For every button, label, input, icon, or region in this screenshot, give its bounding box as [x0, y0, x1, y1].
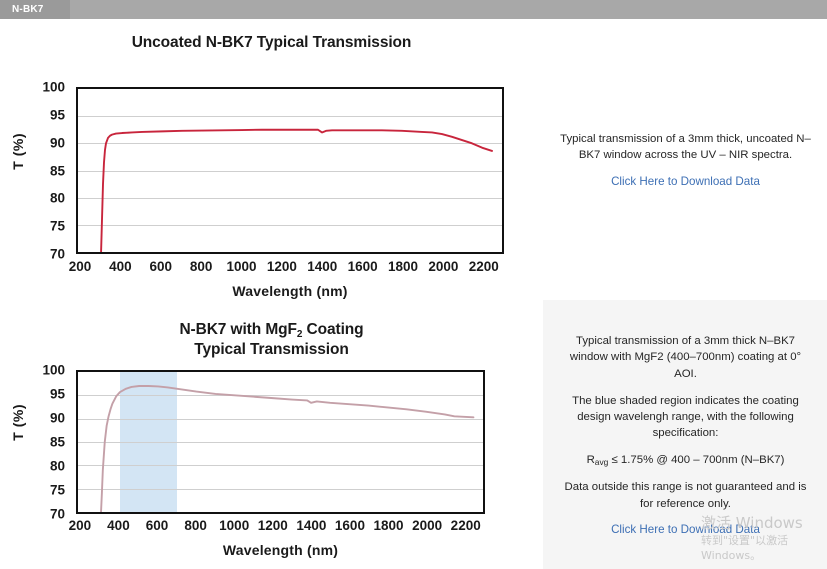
coated-specification: Ravg ≤ 1.75% @ 400 – 700nm (N–BK7)	[587, 452, 785, 468]
x-tick: 1200	[258, 518, 288, 533]
tab-bar-empty-area	[70, 0, 827, 19]
y-tick: 75	[50, 482, 65, 497]
y-tick: 85	[50, 435, 65, 450]
chart-panel-uncoated: Uncoated N-BK7 Typical Transmission T (%…	[0, 19, 543, 300]
y-tick: 85	[50, 163, 65, 178]
x-tick: 200	[69, 259, 92, 274]
coated-description-3: Data outside this range is not guarantee…	[558, 479, 813, 511]
x-tick: 400	[107, 518, 130, 533]
x-tick: 600	[150, 259, 173, 274]
curve-path	[101, 130, 492, 252]
x-tick: 400	[109, 259, 132, 274]
x-tick: 2000	[428, 259, 458, 274]
spec-subscript: avg	[595, 457, 609, 467]
x-tick: 1400	[296, 518, 326, 533]
x-tick: 1600	[348, 259, 378, 274]
title-text-a: N-BK7 with MgF	[179, 321, 296, 338]
y-tick: 75	[50, 219, 65, 234]
transmission-curve-coated	[78, 372, 483, 512]
info-panel-uncoated: Typical transmission of a 3mm thick, unc…	[544, 19, 827, 300]
tab-label: N-BK7	[12, 4, 44, 15]
x-tick: 200	[69, 518, 92, 533]
plot-area-uncoated	[76, 87, 504, 254]
x-tick: 1200	[267, 259, 297, 274]
x-tick: 2200	[469, 259, 499, 274]
page-root: N-BK7 Uncoated N-BK7 Typical Transmissio…	[0, 0, 827, 569]
x-tick: 1000	[219, 518, 249, 533]
title-subscript: 2	[297, 329, 302, 340]
y-tick: 70	[50, 507, 65, 522]
x-axis-label-uncoated: Wavelength (nm)	[76, 283, 504, 299]
section-mgf2-coated: N-BK7 with MgF2 Coating Typical Transmis…	[0, 300, 827, 569]
coated-description-1: Typical transmission of a 3mm thick N–BK…	[558, 333, 813, 382]
x-tick: 1600	[335, 518, 365, 533]
x-tick: 1000	[227, 259, 257, 274]
x-tick: 1800	[388, 259, 418, 274]
chart-title-uncoated: Uncoated N-BK7 Typical Transmission	[0, 33, 543, 53]
transmission-curve-uncoated	[78, 89, 502, 252]
x-tick: 800	[190, 259, 213, 274]
y-tick: 90	[50, 410, 65, 425]
y-tick: 100	[42, 80, 65, 95]
y-tick: 70	[50, 247, 65, 262]
info-panel-coated: Typical transmission of a 3mm thick N–BK…	[544, 300, 827, 569]
download-data-link-coated[interactable]: Click Here to Download Data	[611, 523, 760, 536]
y-tick: 100	[42, 363, 65, 378]
x-tick: 1800	[374, 518, 404, 533]
chart-uncoated: T (%) 100 95 90 85 80 75 70	[0, 71, 543, 301]
x-tick: 1400	[307, 259, 337, 274]
coated-description-2: The blue shaded region indicates the coa…	[558, 393, 813, 442]
y-axis-ticks-coated: 100 95 90 85 80 75 70	[27, 370, 65, 514]
y-tick: 95	[50, 107, 65, 122]
x-tick: 800	[184, 518, 207, 533]
spec-symbol: R	[587, 454, 595, 466]
y-axis-label-uncoated: T (%)	[10, 133, 26, 170]
plot-area-coated	[76, 370, 485, 514]
title-text-b: Coating	[302, 321, 363, 338]
x-axis-label-coated: Wavelength (nm)	[76, 542, 485, 558]
download-data-link-uncoated[interactable]: Click Here to Download Data	[611, 175, 760, 188]
y-axis-ticks-uncoated: 100 95 90 85 80 75 70	[27, 87, 65, 254]
uncoated-description: Typical transmission of a 3mm thick, unc…	[558, 131, 813, 163]
y-tick: 80	[50, 191, 65, 206]
chart-title-coated: N-BK7 with MgF2 Coating Typical Transmis…	[0, 320, 543, 360]
x-tick: 2000	[412, 518, 442, 533]
spec-value: ≤ 1.75% @ 400 – 700nm (N–BK7)	[608, 454, 784, 466]
tab-bar: N-BK7	[0, 0, 827, 19]
chart-title-coated-line1: N-BK7 with MgF2 Coating	[0, 320, 543, 340]
y-tick: 95	[50, 387, 65, 402]
section-uncoated: Uncoated N-BK7 Typical Transmission T (%…	[0, 19, 827, 300]
y-tick: 90	[50, 135, 65, 150]
y-tick: 80	[50, 459, 65, 474]
curve-path	[101, 386, 474, 512]
x-tick: 600	[146, 518, 169, 533]
y-axis-label-coated: T (%)	[10, 404, 26, 441]
tab-n-bk7[interactable]: N-BK7	[0, 0, 58, 19]
chart-panel-coated: N-BK7 with MgF2 Coating Typical Transmis…	[0, 300, 543, 569]
x-tick: 2200	[451, 518, 481, 533]
chart-coated: T (%) 100 95 90 85 80 75 70	[0, 356, 543, 569]
